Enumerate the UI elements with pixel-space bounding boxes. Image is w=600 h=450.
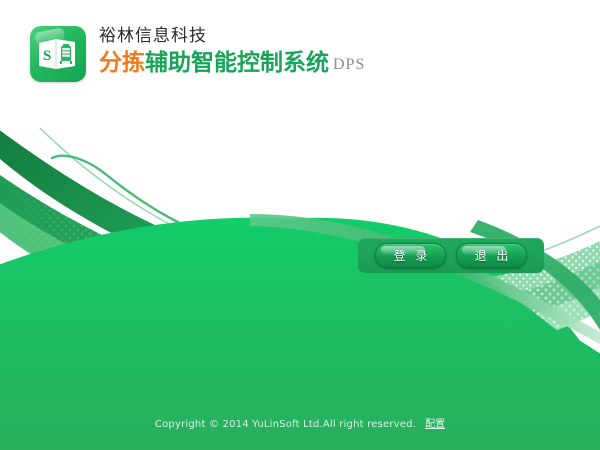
copyright-text: Copyright © 2014 YuLinSoft Ltd.All right… [155, 419, 416, 430]
exit-button-label: 退 出 [472, 250, 512, 262]
app-logo-icon: S [30, 26, 86, 82]
product-title-main: 辅助智能控制系统 [145, 50, 329, 76]
logo-book-glyph: S [38, 36, 78, 74]
product-abbreviation: DPS [333, 56, 365, 73]
product-title-accent: 分拣 [99, 50, 145, 76]
config-link[interactable]: 配置 [425, 419, 445, 430]
brand-header: S 裕林信息科技 分拣辅助智能控制系统DPS [30, 26, 365, 82]
brand-text-block: 裕林信息科技 分拣辅助智能控制系统DPS [99, 26, 365, 79]
logo-cabinet-icon [60, 44, 72, 64]
login-button-label: 登 录 [391, 250, 431, 262]
product-title: 分拣辅助智能控制系统DPS [99, 50, 365, 79]
login-button[interactable]: 登 录 [375, 243, 446, 268]
login-splash-window: S 裕林信息科技 分拣辅助智能控制系统DPS [0, 0, 600, 450]
exit-button[interactable]: 退 出 [456, 243, 527, 268]
footer: Copyright © 2014 YuLinSoft Ltd.All right… [0, 414, 600, 432]
logo-letter: S [43, 48, 51, 64]
action-button-panel: 登 录 退 出 [358, 238, 544, 273]
company-name: 裕林信息科技 [99, 26, 365, 46]
